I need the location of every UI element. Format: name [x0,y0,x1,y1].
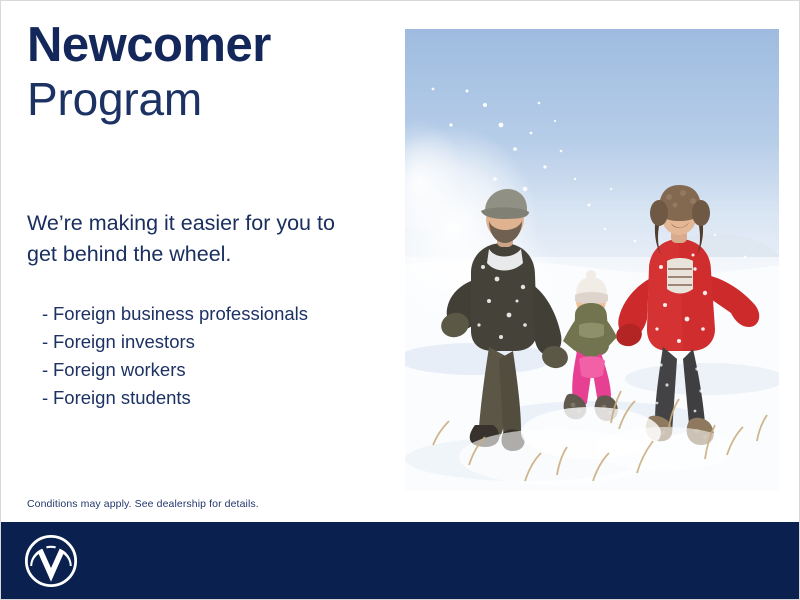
list-item-label: Foreign business professionals [53,303,308,324]
list-item: -Foreign business professionals [42,300,308,328]
volkswagen-logo [23,533,79,589]
bullet-dash-icon: - [42,328,53,356]
subheadline: We’re making it easier for you to get be… [27,208,357,269]
hero-photo [405,29,779,491]
bullet-dash-icon: - [42,384,53,412]
list-item: -Foreign investors [42,328,308,356]
footer-bar [1,522,799,600]
page-title: Newcomer Program [27,21,271,122]
disclaimer-text: Conditions may apply. See dealership for… [27,498,259,510]
copy-column: Newcomer Program We’re making it easier … [1,1,401,522]
headline-line-1: Newcomer [27,21,271,70]
headline-line-2: Program [27,76,271,122]
bullet-dash-icon: - [42,300,53,328]
advertisement-banner: Newcomer Program We’re making it easier … [0,0,800,600]
list-item-label: Foreign investors [53,331,195,352]
list-item-label: Foreign students [53,387,191,408]
winter-family-illustration [405,29,779,491]
bullet-dash-icon: - [42,356,53,384]
list-item: -Foreign workers [42,356,308,384]
eligibility-list: -Foreign business professionals -Foreign… [42,300,308,412]
list-item: -Foreign students [42,384,308,412]
list-item-label: Foreign workers [53,359,186,380]
vw-roundel-icon [23,533,79,589]
